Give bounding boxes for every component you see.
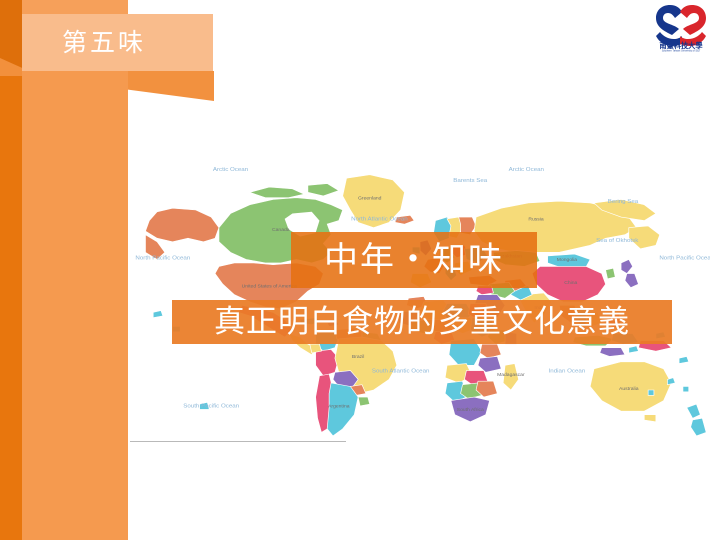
ribbon-tail-left	[22, 71, 128, 93]
main-title: 中年・知味	[324, 243, 504, 277]
svg-text:Russia: Russia	[528, 217, 544, 223]
divider-rule	[130, 441, 346, 442]
svg-text:Australia: Australia	[619, 386, 639, 392]
slide-canvas: Arctic Ocean Arctic Ocean North Atlantic…	[0, 0, 720, 540]
svg-text:Arctic Ocean: Arctic Ocean	[213, 167, 248, 173]
svg-text:Arctic Ocean: Arctic Ocean	[509, 167, 544, 173]
svg-text:Barents Sea: Barents Sea	[453, 178, 488, 184]
ribbon-label: 第五味	[62, 30, 146, 55]
svg-text:Brazil: Brazil	[352, 354, 365, 360]
subtitle-box: 真正明白食物的多重文化意義	[172, 300, 672, 344]
svg-text:Canada: Canada	[272, 227, 290, 233]
subtitle: 真正明白食物的多重文化意義	[214, 307, 630, 338]
svg-text:Bering Sea: Bering Sea	[608, 199, 639, 205]
ribbon-tail	[128, 71, 214, 101]
svg-text:Indian Ocean: Indian Ocean	[549, 369, 586, 375]
university-logo-mark: 南臺科技大學 Southern Taiwan University of S&T	[650, 2, 712, 52]
university-logo: 南臺科技大學 Southern Taiwan University of S&T	[650, 2, 712, 52]
svg-text:Madagascar: Madagascar	[497, 372, 525, 378]
svg-text:United States of America: United States of America	[242, 284, 297, 290]
svg-text:North Pacific Ocean: North Pacific Ocean	[659, 256, 710, 262]
svg-text:South Pacific Ocean: South Pacific Ocean	[183, 404, 239, 410]
svg-text:South Africa: South Africa	[457, 407, 484, 413]
svg-text:South Atlantic Ocean: South Atlantic Ocean	[372, 369, 430, 375]
svg-text:China: China	[564, 280, 577, 286]
sidebar-light-panel-top	[22, 0, 128, 14]
main-title-box: 中年・知味	[291, 232, 537, 288]
svg-text:Argentina: Argentina	[328, 404, 350, 410]
svg-text:North Pacific Ocean: North Pacific Ocean	[135, 256, 190, 262]
svg-text:Sea of Okhotsk: Sea of Okhotsk	[596, 238, 638, 244]
ribbon-banner: 第五味	[22, 14, 213, 71]
svg-text:Greenland: Greenland	[358, 196, 382, 202]
svg-text:Southern Taiwan University of: Southern Taiwan University of S&T	[662, 50, 701, 52]
svg-text:North Atlantic Ocean: North Atlantic Ocean	[351, 217, 408, 223]
sidebar-dark-strip	[0, 0, 22, 540]
svg-text:Mongolia: Mongolia	[557, 257, 578, 263]
